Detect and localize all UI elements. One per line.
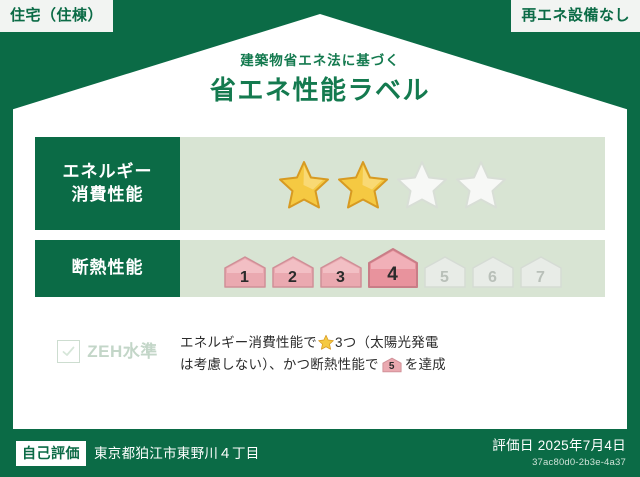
energy-label-line1: エネルギー bbox=[63, 162, 153, 181]
zeh-description-line2: は考慮しない）、かつ断熱性能で5を達成 bbox=[180, 354, 605, 376]
zeh-description-line1: エネルギー消費性能で3つ（太陽光発電 bbox=[180, 332, 605, 354]
grade-number: 5 bbox=[423, 270, 467, 286]
renewable-energy-tag: 再エネ設備なし bbox=[511, 0, 640, 32]
footer-right-group: 評価日 2025年7月4日 37ac80d0-2b3e-4a37 bbox=[492, 438, 626, 469]
energy-performance-row: エネルギー 消費性能 bbox=[35, 137, 605, 230]
evaluation-id: 37ac80d0-2b3e-4a37 bbox=[492, 457, 626, 468]
inline-grade-badge: 5 bbox=[382, 357, 402, 373]
zeh-description: エネルギー消費性能で3つ（太陽光発電 は考慮しない）、かつ断熱性能で5を達成 bbox=[180, 330, 605, 377]
star-empty-icon bbox=[396, 159, 448, 209]
zeh-standard-section: ZEH水準 エネルギー消費性能で3つ（太陽光発電 は考慮しない）、かつ断熱性能で… bbox=[35, 330, 605, 377]
insulation-performance-row: 断熱性能 1 2 bbox=[35, 240, 605, 297]
insulation-grade-badge: 2 bbox=[271, 255, 315, 289]
insulation-grade-badge: 6 bbox=[471, 255, 515, 289]
grade-number: 6 bbox=[471, 270, 515, 286]
grade-number: 4 bbox=[367, 265, 419, 284]
grade-number: 2 bbox=[271, 270, 315, 286]
metrics-section: エネルギー 消費性能 bbox=[35, 137, 605, 307]
check-icon bbox=[61, 344, 76, 359]
insulation-grade-badge: 1 bbox=[223, 255, 267, 289]
insulation-grade-scale: 1 2 3 bbox=[223, 247, 563, 291]
grade-number: 7 bbox=[519, 270, 563, 286]
insulation-grade-badge: 5 bbox=[423, 255, 467, 289]
energy-performance-label: エネルギー 消費性能 bbox=[35, 137, 180, 230]
star-empty-icon bbox=[455, 159, 507, 209]
star-filled-icon bbox=[278, 159, 330, 209]
footer-left-group: 自己評価 東京都狛江市東野川４丁目 bbox=[16, 441, 260, 466]
energy-performance-label: 住宅（住棟） 再エネ設備なし 建築物省エネ法に基づく 省エネ性能ラベル エネルギ… bbox=[0, 0, 640, 477]
zeh-desc-line2-post: を達成 bbox=[405, 357, 446, 372]
star-filled-icon bbox=[337, 159, 389, 209]
zeh-checkbox bbox=[57, 340, 80, 363]
energy-label-line2: 消費性能 bbox=[72, 185, 144, 204]
evaluation-date: 評価日 2025年7月4日 bbox=[492, 438, 626, 454]
insulation-performance-label: 断熱性能 bbox=[35, 240, 180, 297]
grade-number: 3 bbox=[319, 270, 363, 286]
grade-number: 1 bbox=[223, 270, 267, 286]
label-title: 建築物省エネ法に基づく 省エネ性能ラベル bbox=[0, 54, 640, 103]
title-subtitle: 建築物省エネ法に基づく bbox=[0, 54, 640, 68]
zeh-desc-line1-pre: エネルギー消費性能で bbox=[180, 335, 317, 350]
zeh-mark: ZEH水準 bbox=[35, 330, 180, 363]
star-rating bbox=[278, 159, 507, 209]
zeh-desc-line2-pre: は考慮しない）、かつ断熱性能で bbox=[180, 357, 379, 372]
self-evaluation-badge: 自己評価 bbox=[16, 441, 86, 466]
grade-number: 5 bbox=[382, 362, 402, 372]
star-filled-icon bbox=[318, 334, 334, 350]
insulation-performance-value: 1 2 3 bbox=[180, 240, 605, 297]
insulation-grade-badge: 3 bbox=[319, 255, 363, 289]
property-address: 東京都狛江市東野川４丁目 bbox=[94, 447, 260, 461]
building-type-tag: 住宅（住棟） bbox=[0, 0, 113, 32]
insulation-grade-badge: 7 bbox=[519, 255, 563, 289]
page-title: 省エネ性能ラベル bbox=[0, 77, 640, 103]
insulation-grade-badge-current: 4 bbox=[367, 247, 419, 289]
zeh-desc-line1-post: 3つ（太陽光発電 bbox=[335, 335, 439, 350]
zeh-label: ZEH水準 bbox=[87, 343, 158, 360]
label-footer: 自己評価 東京都狛江市東野川４丁目 評価日 2025年7月4日 37ac80d0… bbox=[0, 429, 640, 477]
energy-performance-value bbox=[180, 137, 605, 230]
